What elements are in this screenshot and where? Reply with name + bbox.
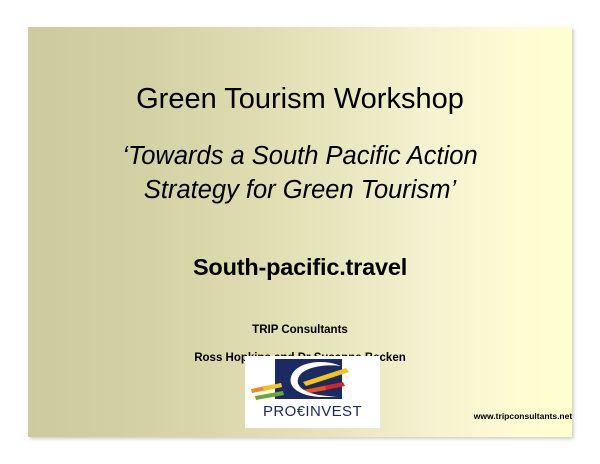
proinvest-logo-icon bbox=[245, 356, 380, 406]
slide-subtitle-line-1: ‘Towards a South Pacific Action bbox=[28, 139, 572, 173]
presentation-slide: Green Tourism Workshop ‘Towards a South … bbox=[28, 27, 572, 437]
website-url: www.tripconsultants.net bbox=[458, 411, 572, 421]
domain-heading: South-pacific.travel bbox=[28, 254, 572, 281]
proinvest-wordmark: PRO€INVEST bbox=[245, 403, 380, 421]
organisation-name: TRIP Consultants bbox=[28, 324, 572, 336]
slide-canvas: Green Tourism Workshop ‘Towards a South … bbox=[0, 0, 600, 464]
proinvest-logo: PRO€INVEST bbox=[245, 356, 380, 428]
slide-title: Green Tourism Workshop bbox=[28, 83, 572, 116]
slide-subtitle: ‘Towards a South Pacific Action Strategy… bbox=[28, 139, 572, 207]
slide-subtitle-line-2: Strategy for Green Tourism’ bbox=[28, 173, 572, 207]
